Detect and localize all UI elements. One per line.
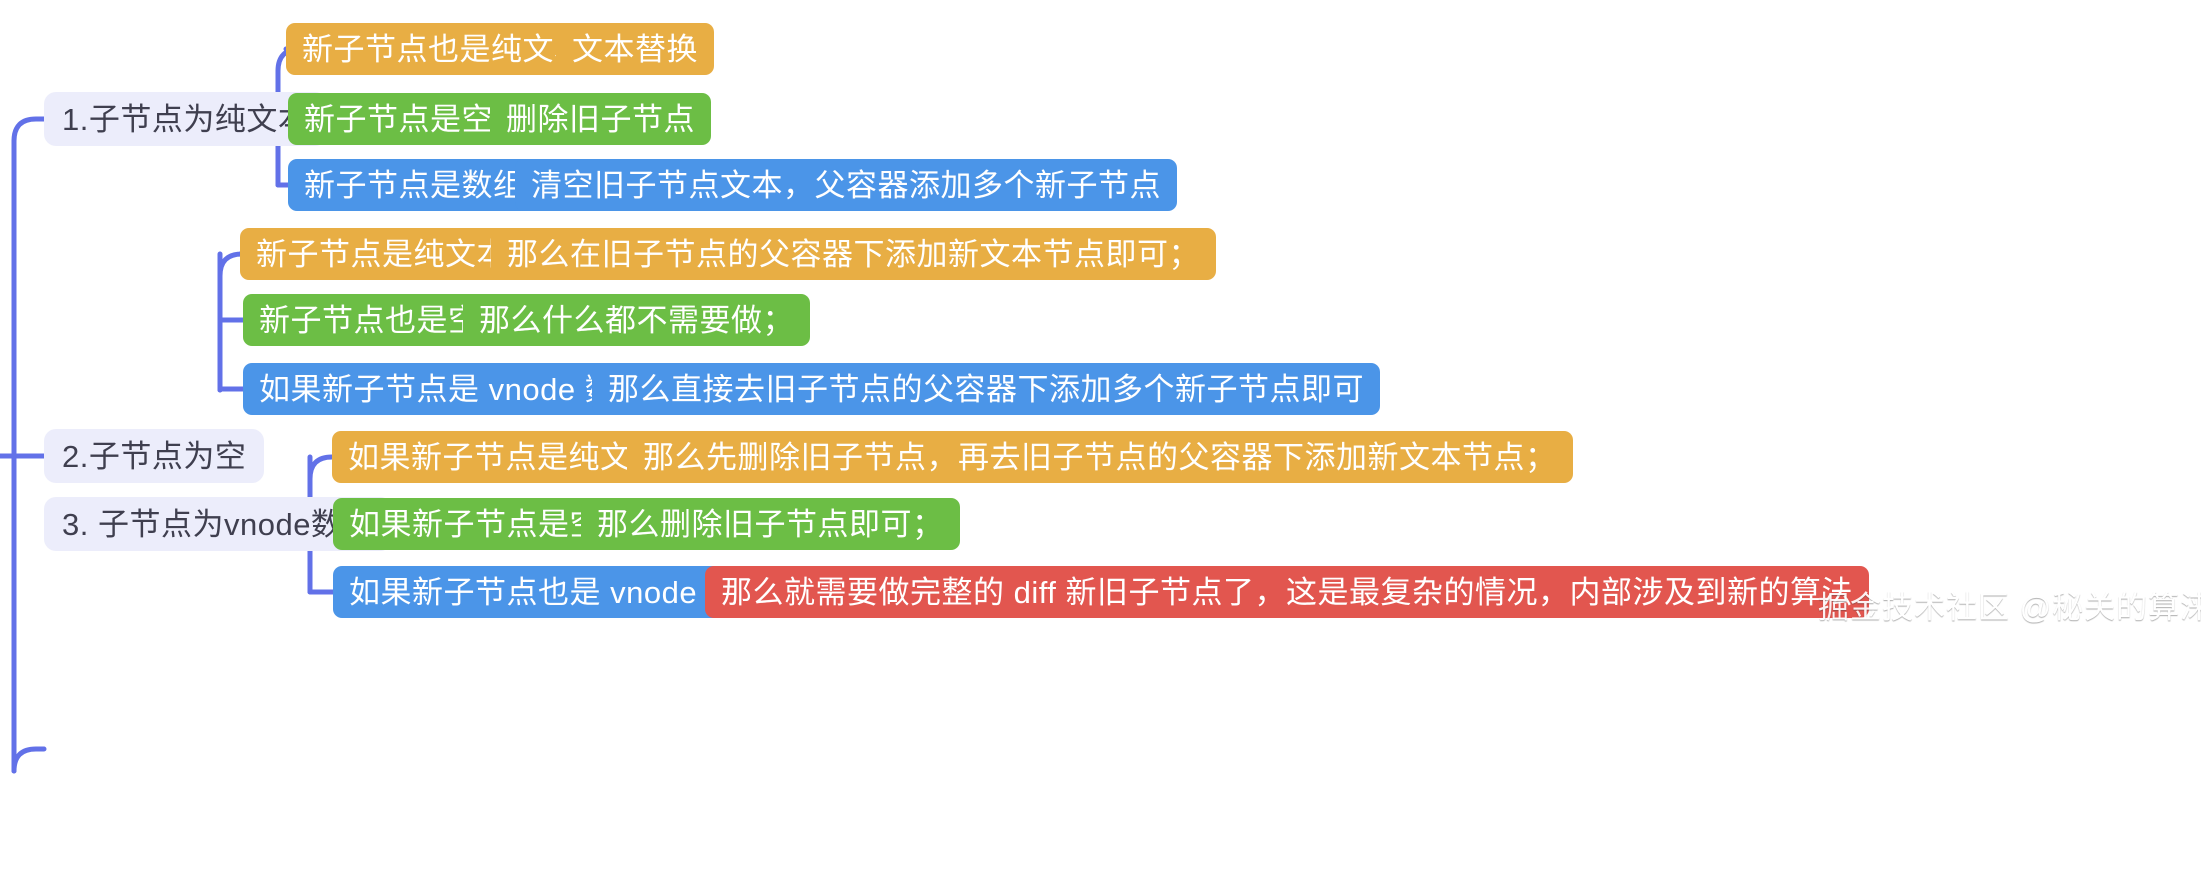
result-node-b3-c3[interactable]: 那么就需要做完整的 diff 新旧子节点了，这是最复杂的情况，内部涉及到新的算法 (705, 566, 1869, 618)
child-node-b1-c1[interactable]: 新子节点也是纯文本 (286, 23, 602, 75)
result-node-b2-c2-label: 那么什么都不需要做； (479, 305, 794, 336)
child-node-b1-c2[interactable]: 新子节点是空 (288, 93, 509, 145)
child-node-b2-c1-label: 新子节点是纯文本 (256, 239, 508, 270)
result-node-b2-c1-label: 那么在旧子节点的父容器下添加新文本节点即可； (507, 239, 1200, 270)
child-node-b2-c2-label: 新子节点也是空 (259, 305, 480, 336)
child-node-b2-c1[interactable]: 新子节点是纯文本 (240, 228, 524, 280)
result-node-b3-c2[interactable]: 那么删除旧子节点即可； (581, 498, 960, 550)
result-node-b2-c3-label: 那么直接去旧子节点的父容器下添加多个新子节点即可 (608, 374, 1364, 405)
result-node-b3-c2-label: 那么删除旧子节点即可； (597, 509, 944, 540)
branch-node-2[interactable]: 2.子节点为空 (44, 429, 264, 483)
result-node-b1-c2[interactable]: 删除旧子节点 (490, 93, 711, 145)
child-node-b1-c3[interactable]: 新子节点是数组 (288, 159, 541, 211)
branch-node-1[interactable]: 1.子节点为纯文本 (44, 92, 327, 146)
child-node-b1-c1-label: 新子节点也是纯文本 (302, 34, 586, 65)
result-node-b1-c1-label: 文本替换 (572, 34, 698, 65)
mindmap-canvas: 1.子节点为纯文本 新子节点也是纯文本 文本替换 新子节点是空 删除旧子节点 新… (0, 0, 2201, 871)
child-node-b1-c2-label: 新子节点是空 (304, 104, 493, 135)
child-node-b2-c3-label: 如果新子节点是 vnode 数组 (259, 374, 648, 405)
edge-root-to-branch-3 (14, 749, 44, 771)
result-node-b2-c1[interactable]: 那么在旧子节点的父容器下添加新文本节点即可； (491, 228, 1216, 280)
child-node-b1-c3-label: 新子节点是数组 (304, 170, 525, 201)
branch-node-3-label: 3. 子节点为vnode数组 (62, 509, 374, 540)
result-node-b1-c2-label: 删除旧子节点 (506, 104, 695, 135)
edge-branch-2-to-c1 (220, 254, 242, 276)
edge-root-to-branch-1 (14, 119, 44, 141)
result-node-b2-c2[interactable]: 那么什么都不需要做； (463, 294, 810, 346)
result-node-b1-c3[interactable]: 清空旧子节点文本，父容器添加多个新子节点 (515, 159, 1177, 211)
result-node-b3-c3-label: 那么就需要做完整的 diff 新旧子节点了，这是最复杂的情况，内部涉及到新的算法 (721, 577, 1853, 608)
child-node-b3-c2-label: 如果新子节点是空 (349, 509, 601, 540)
child-node-b3-c2[interactable]: 如果新子节点是空 (333, 498, 617, 550)
edge-branch-3-to-c1 (310, 457, 332, 479)
child-node-b2-c2[interactable]: 新子节点也是空 (243, 294, 496, 346)
watermark-text: 掘金技术社区 @秘关的算涞风 (1818, 582, 2201, 627)
result-node-b1-c3-label: 清空旧子节点文本，父容器添加多个新子节点 (531, 170, 1161, 201)
result-node-b2-c3[interactable]: 那么直接去旧子节点的父容器下添加多个新子节点即可 (592, 363, 1380, 415)
child-node-b3-c1-label: 如果新子节点是纯文本 (348, 442, 663, 473)
result-node-b3-c1[interactable]: 那么先删除旧子节点，再去旧子节点的父容器下添加新文本节点； (627, 431, 1573, 483)
branch-node-1-label: 1.子节点为纯文本 (62, 104, 309, 135)
result-node-b1-c1[interactable]: 文本替换 (556, 23, 714, 75)
result-node-b3-c1-label: 那么先删除旧子节点，再去旧子节点的父容器下添加新文本节点； (643, 442, 1557, 473)
branch-node-2-label: 2.子节点为空 (62, 441, 246, 472)
